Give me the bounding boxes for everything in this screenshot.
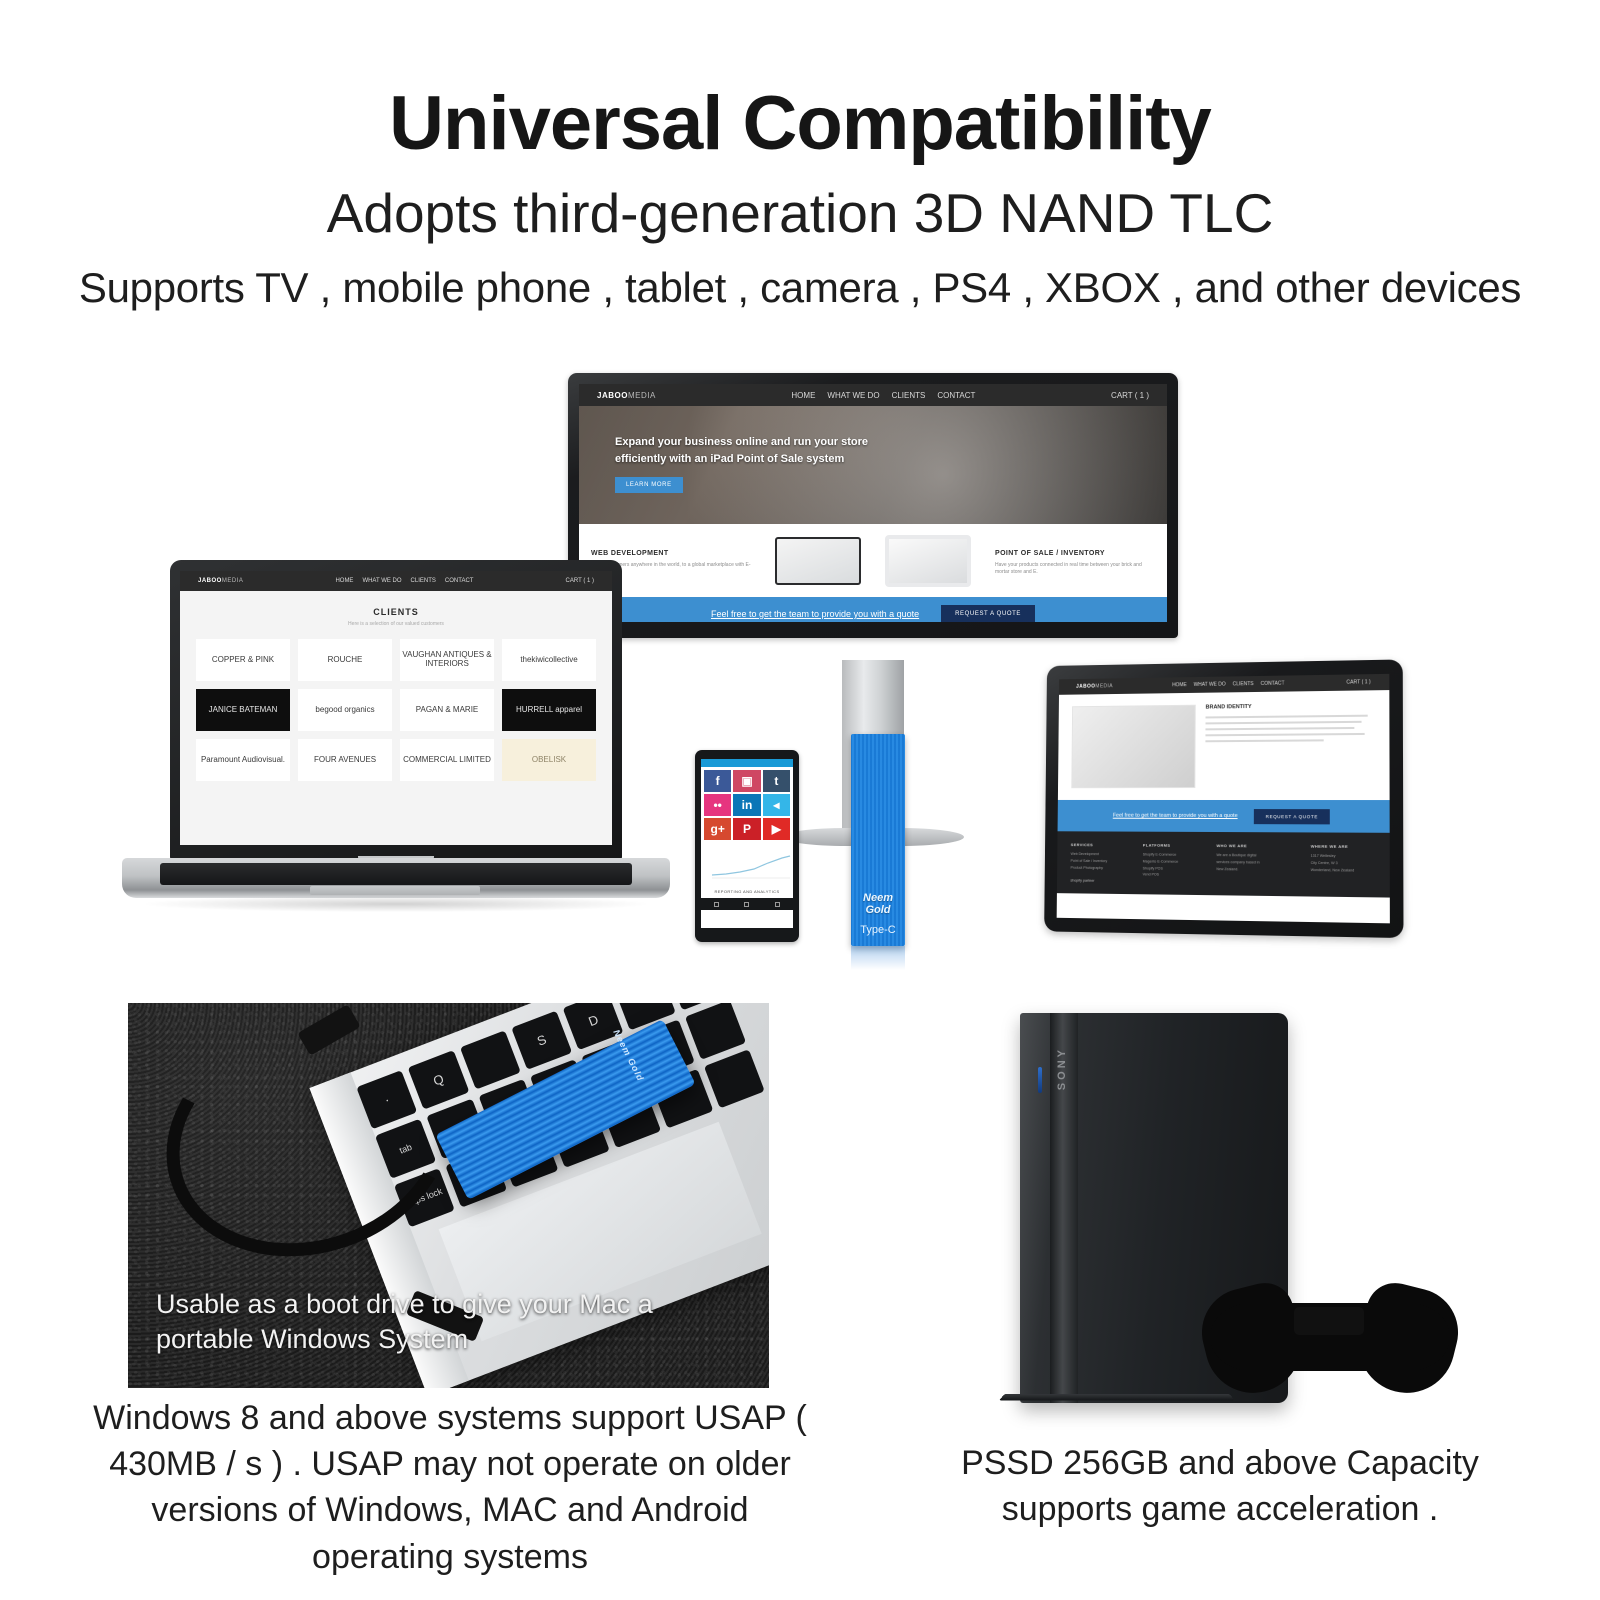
client-logo[interactable]: HURRELL apparel bbox=[502, 689, 596, 731]
social-icon-grid[interactable]: f ▣ t •• in ◂ g+ P ▶ bbox=[701, 767, 793, 843]
feature-point-of-sale: POINT OF SALE / INVENTORY Have your prod… bbox=[983, 524, 1167, 597]
laptop: JABOOMEDIA HOME WHAT WE DO CLIENTS CONTA… bbox=[122, 560, 670, 945]
footer-link[interactable]: Vend POS bbox=[1143, 872, 1205, 879]
pinterest-icon[interactable]: P bbox=[733, 818, 760, 840]
clients-subheading: Here is a selection of our valued custom… bbox=[180, 617, 612, 639]
nav-item-what-we-do[interactable]: WHAT WE DO bbox=[362, 578, 401, 584]
phone-body: f ▣ t •• in ◂ g+ P ▶ bbox=[695, 750, 799, 942]
feature-thumb-laptop bbox=[763, 524, 873, 597]
clients-page: CLIENTS Here is a selection of our value… bbox=[180, 591, 612, 845]
client-logo[interactable]: Paramount Audiovisual. bbox=[196, 739, 290, 781]
request-quote-button[interactable]: REQUEST A QUOTE bbox=[941, 605, 1035, 622]
ps4-photo: SONY bbox=[960, 985, 1460, 1400]
client-logo[interactable]: ROUCHE bbox=[298, 639, 392, 681]
nav-item-clients[interactable]: CLIENTS bbox=[411, 578, 436, 584]
key bbox=[685, 1003, 746, 1060]
site-brand: JABOOMEDIA bbox=[597, 391, 656, 400]
twitter-icon[interactable]: ◂ bbox=[763, 794, 790, 816]
line-chart-icon bbox=[706, 847, 793, 881]
recents-icon[interactable] bbox=[775, 902, 780, 907]
tablet-body: JABOOMEDIA HOME WHAT WE DO CLIENTS CONTA… bbox=[1044, 659, 1403, 938]
googleplus-icon[interactable]: g+ bbox=[704, 818, 731, 840]
footer-text: New Zealand. bbox=[1216, 866, 1298, 874]
brand-identity-section: BRAND IDENTITY bbox=[1058, 690, 1390, 800]
heading-block: Universal Compatibility Adopts third-gen… bbox=[0, 84, 1600, 316]
client-logo-grid: COPPER & PINK ROUCHE VAUGHAN ANTIQUES & … bbox=[180, 639, 612, 781]
laptop-base bbox=[122, 858, 670, 898]
controller-touchpad bbox=[1294, 1307, 1364, 1335]
analytics-caption: REPORTING AND ANALYTICS bbox=[706, 889, 788, 894]
footer-link[interactable]: Product Photography bbox=[1070, 864, 1131, 871]
laptop-shadow bbox=[146, 896, 646, 912]
client-logo[interactable]: VAUGHAN ANTIQUES & INTERIORS bbox=[400, 639, 494, 681]
footer-heading: WHERE WE ARE bbox=[1311, 844, 1376, 850]
boot-drive-photo: · Q S D V tab A caps lock Z bbox=[128, 1003, 769, 1388]
console-stand bbox=[999, 1394, 1235, 1400]
site-nav-links[interactable]: HOME WHAT WE DO CLIENTS CONTACT bbox=[1172, 681, 1284, 689]
feature-title: POINT OF SALE / INVENTORY bbox=[995, 550, 1155, 557]
cart-link[interactable]: CART ( 1 ) bbox=[566, 578, 594, 584]
tablet-footer: SERVICES Web Development Point of Sale /… bbox=[1057, 831, 1390, 898]
tablet-quote-bar: Feel free to get the team to provide you… bbox=[1058, 800, 1390, 833]
power-led-icon bbox=[1038, 1067, 1042, 1093]
portable-ssd-device: Neem Gold Type-C bbox=[851, 734, 905, 946]
client-logo[interactable]: FOUR AVENUES bbox=[298, 739, 392, 781]
client-logo[interactable]: COPPER & PINK bbox=[196, 639, 290, 681]
monitor-hero: Expand your business online and run your… bbox=[579, 406, 1167, 524]
instagram-icon[interactable]: ▣ bbox=[733, 770, 760, 792]
phone-screen: f ▣ t •• in ◂ g+ P ▶ bbox=[701, 759, 793, 928]
request-quote-button[interactable]: REQUEST A QUOTE bbox=[1254, 809, 1331, 824]
nav-item-contact[interactable]: CONTACT bbox=[937, 391, 975, 400]
page-subtitle: Adopts third-generation 3D NAND TLC bbox=[0, 179, 1600, 248]
overlay-caption: Usable as a boot drive to give your Mac … bbox=[156, 1287, 729, 1358]
quote-text: Feel free to get the team to provide you… bbox=[1113, 813, 1238, 819]
nav-item-what-we-do[interactable]: WHAT WE DO bbox=[1194, 682, 1226, 688]
feature-body: Have your products connected in real tim… bbox=[995, 562, 1155, 577]
laptop-lid: JABOOMEDIA HOME WHAT WE DO CLIENTS CONTA… bbox=[170, 560, 622, 860]
site-brand: JABOOMEDIA bbox=[198, 578, 243, 584]
shopify-partner-badge: shopify partner bbox=[1070, 879, 1131, 884]
nav-item-clients[interactable]: CLIENTS bbox=[892, 391, 926, 400]
right-caption: PSSD 256GB and above Capacity supports g… bbox=[900, 1440, 1540, 1532]
tablet: JABOOMEDIA HOME WHAT WE DO CLIENTS CONTA… bbox=[1040, 662, 1400, 934]
cart-link[interactable]: CART ( 1 ) bbox=[1346, 679, 1370, 685]
laptop-site-nav[interactable]: JABOOMEDIA HOME WHAT WE DO CLIENTS CONTA… bbox=[180, 571, 612, 591]
cart-link[interactable]: CART ( 1 ) bbox=[1111, 391, 1149, 400]
facebook-icon[interactable]: f bbox=[704, 770, 731, 792]
dualshock-controller bbox=[1210, 1285, 1450, 1397]
key bbox=[703, 1049, 764, 1109]
client-logo[interactable]: OBELISK bbox=[502, 739, 596, 781]
ssd-interface-label: Type-C bbox=[851, 924, 905, 936]
nav-item-home[interactable]: HOME bbox=[335, 578, 353, 584]
client-logo[interactable]: JANICE BATEMAN bbox=[196, 689, 290, 731]
tumblr-icon[interactable]: t bbox=[763, 770, 790, 792]
monitor-site-nav[interactable]: JABOOMEDIA HOME WHAT WE DO CLIENTS CONTA… bbox=[579, 384, 1167, 406]
back-icon[interactable] bbox=[714, 902, 719, 907]
youtube-icon[interactable]: ▶ bbox=[763, 818, 790, 840]
linkedin-icon[interactable]: in bbox=[733, 794, 760, 816]
site-brand: JABOOMEDIA bbox=[1076, 683, 1113, 689]
left-caption: Windows 8 and above systems support USAP… bbox=[80, 1395, 820, 1580]
site-nav-links[interactable]: HOME WHAT WE DO CLIENTS CONTACT bbox=[791, 391, 975, 400]
phone-analytics-chart: REPORTING AND ANALYTICS bbox=[701, 843, 793, 898]
site-nav-links[interactable]: HOME WHAT WE DO CLIENTS CONTACT bbox=[335, 578, 473, 584]
device-cluster: JABOOMEDIA HOME WHAT WE DO CLIENTS CONTA… bbox=[0, 350, 1600, 970]
flickr-icon[interactable]: •• bbox=[704, 794, 731, 816]
clients-heading: CLIENTS bbox=[180, 591, 612, 617]
feature-title: WEB DEVELOPMENT bbox=[591, 550, 751, 557]
brand-identity-title: BRAND IDENTITY bbox=[1206, 702, 1375, 710]
ssd-reflection bbox=[851, 946, 905, 970]
sony-logo: SONY bbox=[1056, 1047, 1068, 1090]
page-title: Universal Compatibility bbox=[0, 84, 1600, 165]
nav-item-contact[interactable]: CONTACT bbox=[445, 578, 474, 584]
laptop-screen: JABOOMEDIA HOME WHAT WE DO CLIENTS CONTA… bbox=[180, 571, 612, 845]
smartphone: f ▣ t •• in ◂ g+ P ▶ bbox=[695, 750, 799, 942]
nav-item-clients[interactable]: CLIENTS bbox=[1233, 681, 1254, 687]
nav-item-what-we-do[interactable]: WHAT WE DO bbox=[827, 391, 879, 400]
key bbox=[460, 1030, 521, 1090]
phone-nav-bar[interactable] bbox=[701, 898, 793, 910]
nav-item-contact[interactable]: CONTACT bbox=[1261, 681, 1285, 687]
client-logo[interactable]: thekiwicollective bbox=[502, 639, 596, 681]
phone-status-bar bbox=[701, 759, 793, 767]
hero-headline: Expand your business online and run your… bbox=[615, 434, 879, 467]
feature-thumb-ipad bbox=[873, 524, 983, 597]
key: S bbox=[511, 1011, 572, 1071]
nav-item-home[interactable]: HOME bbox=[1172, 682, 1187, 688]
nav-item-home[interactable]: HOME bbox=[791, 391, 815, 400]
home-icon[interactable] bbox=[744, 902, 749, 907]
footer-heading: WHO WE ARE bbox=[1216, 843, 1298, 849]
ssd-brand-mark: Neem Gold bbox=[612, 1028, 647, 1083]
footer-text: Wonderland, New Zealand bbox=[1311, 867, 1376, 875]
poster-stage: Universal Compatibility Adopts third-gen… bbox=[0, 0, 1600, 1600]
client-logo[interactable]: PAGAN & MARIE bbox=[400, 689, 494, 731]
client-logo[interactable]: COMMERCIAL LIMITED bbox=[400, 739, 494, 781]
ssd-brand-label: Neem Gold bbox=[851, 892, 905, 916]
learn-more-button[interactable]: LEARN MORE bbox=[615, 477, 683, 493]
footer-heading: PLATFORMS bbox=[1143, 843, 1205, 848]
quote-text: Feel free to get the team to provide you… bbox=[711, 609, 919, 619]
page-tagline: Supports TV , mobile phone , tablet , ca… bbox=[0, 261, 1600, 316]
brand-identity-image bbox=[1071, 705, 1195, 789]
footer-heading: SERVICES bbox=[1071, 842, 1131, 847]
client-logo[interactable]: begood organics bbox=[298, 689, 392, 731]
tablet-screen: JABOOMEDIA HOME WHAT WE DO CLIENTS CONTA… bbox=[1057, 674, 1390, 923]
